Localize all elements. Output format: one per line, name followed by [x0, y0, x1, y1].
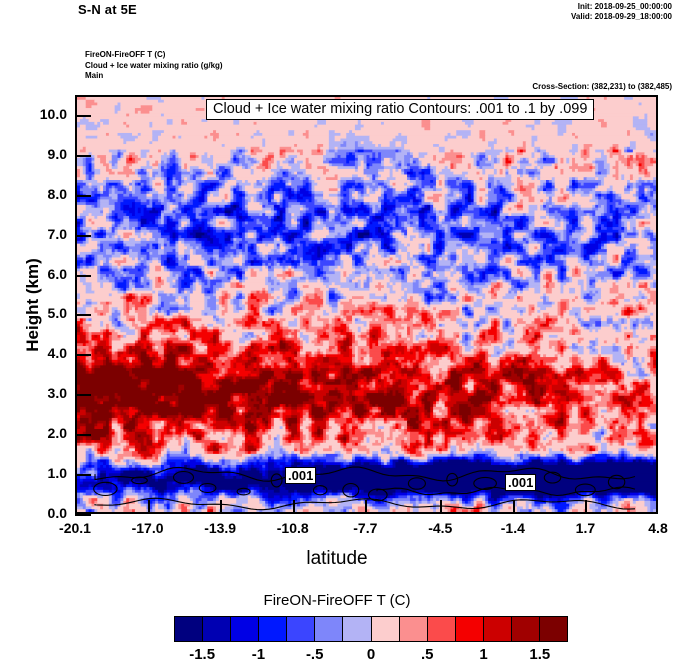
colorbar-swatch-8 [400, 617, 428, 641]
domain-label: Main [85, 71, 223, 82]
cloud-ice-contour-overlay [77, 97, 658, 514]
colorbar-swatch-3 [259, 617, 287, 641]
colorbar-label: -1 [228, 646, 288, 663]
y-tick [75, 434, 91, 436]
y-tick [75, 354, 91, 356]
colorbar-swatch-12 [512, 617, 540, 641]
y-tick [75, 474, 91, 476]
variable-info: FireON-FireOFF T (C) Cloud + Ice water m… [85, 50, 223, 82]
colorbar-swatch-10 [456, 617, 484, 641]
colorbar-swatch-2 [231, 617, 259, 641]
init-time: Init: 2018-09-25_00:00:00 [571, 2, 672, 12]
contour-value-label: .001 [285, 467, 316, 484]
colorbar [174, 616, 568, 642]
x-tick [585, 500, 587, 514]
y-tick-label: 0.0 [7, 505, 67, 521]
page-title: S-N at 5E [78, 2, 137, 17]
x-tick [220, 500, 222, 514]
cross-section-label: Cross-Section: (382,231) to (382,485) [532, 82, 672, 91]
y-tick [75, 275, 91, 277]
colorbar-label: 1 [454, 646, 514, 663]
x-tick [148, 500, 150, 514]
colorbar-swatch-13 [540, 617, 567, 641]
x-tick-label: -20.1 [40, 520, 110, 536]
colorbar-swatch-6 [343, 617, 371, 641]
colorbar-label: -1.5 [172, 646, 232, 663]
y-tick [75, 314, 91, 316]
y-tick-label: 8.0 [7, 186, 67, 202]
x-tick [440, 500, 442, 514]
cross-section-plot [75, 95, 658, 514]
x-tick-label: 1.7 [550, 520, 620, 536]
y-tick-label: 9.0 [7, 146, 67, 162]
overlay-variable-label: Cloud + Ice water mixing ratio (g/kg) [85, 61, 223, 72]
field-variable-label: FireON-FireOFF T (C) [85, 50, 223, 61]
colorbar-swatch-4 [287, 617, 315, 641]
y-tick [75, 195, 91, 197]
y-tick [75, 155, 91, 157]
x-tick [513, 500, 515, 514]
y-tick [75, 514, 91, 516]
colorbar-swatch-0 [175, 617, 203, 641]
colorbar-label: 1.5 [510, 646, 570, 663]
x-tick-label: -17.0 [113, 520, 183, 536]
y-tick [75, 394, 91, 396]
x-tick-label: 4.8 [623, 520, 674, 536]
y-tick-label: 4.0 [7, 345, 67, 361]
x-tick-label: -13.9 [185, 520, 255, 536]
contour-banner: Cloud + Ice water mixing ratio Contours:… [206, 99, 594, 120]
colorbar-swatch-1 [203, 617, 231, 641]
y-tick-label: 7.0 [7, 226, 67, 242]
colorbar-swatch-7 [372, 617, 400, 641]
y-tick-label: 10.0 [7, 106, 67, 122]
colorbar-swatch-11 [484, 617, 512, 641]
y-tick [75, 115, 91, 117]
y-tick-label: 6.0 [7, 266, 67, 282]
y-tick-label: 1.0 [7, 465, 67, 481]
colorbar-label: -.5 [285, 646, 345, 663]
colorbar-label: .5 [397, 646, 457, 663]
y-tick-label: 5.0 [7, 305, 67, 321]
contour-value-label: .001 [505, 474, 536, 491]
x-tick [365, 500, 367, 514]
x-tick [293, 500, 295, 514]
x-tick-label: -7.7 [330, 520, 400, 536]
y-tick-label: 3.0 [7, 385, 67, 401]
colorbar-label: 0 [341, 646, 401, 663]
valid-time: Valid: 2018-09-29_18:00:00 [571, 12, 672, 22]
x-axis-title: latitude [0, 548, 674, 570]
x-tick-label: -10.8 [258, 520, 328, 536]
colorbar-title: FireON-FireOFF T (C) [0, 592, 674, 609]
x-tick-label: -4.5 [405, 520, 475, 536]
run-metadata: Init: 2018-09-25_00:00:00 Valid: 2018-09… [571, 2, 672, 22]
y-tick [75, 235, 91, 237]
colorbar-swatch-9 [428, 617, 456, 641]
y-tick-label: 2.0 [7, 425, 67, 441]
colorbar-swatch-5 [315, 617, 343, 641]
x-tick-label: -1.4 [478, 520, 548, 536]
